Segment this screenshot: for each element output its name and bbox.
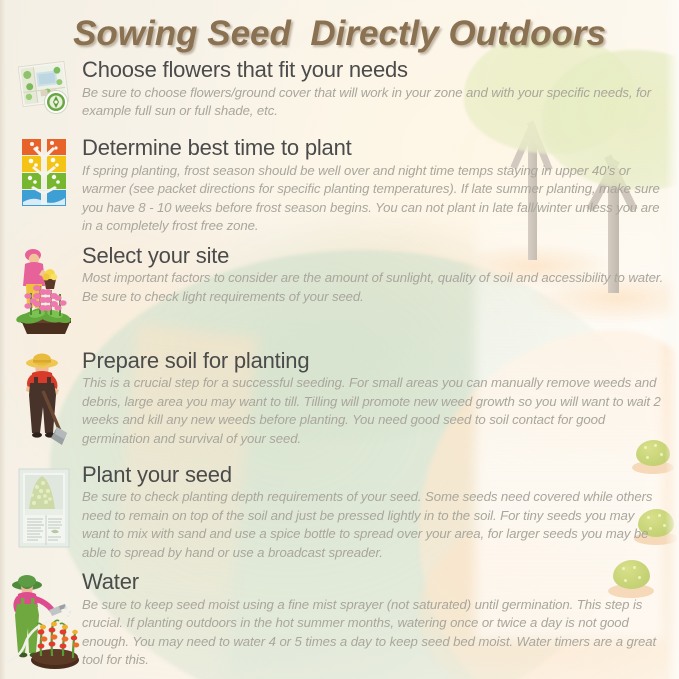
section-3-heading: Select your site — [82, 244, 665, 269]
section-4-heading: Prepare soil for planting — [82, 349, 665, 374]
section-3-icon-col — [8, 244, 80, 343]
section-5-body: Be sure to check planting depth requirem… — [82, 488, 665, 562]
section-5-heading: Plant your seed — [82, 463, 665, 488]
section-1-body: Be sure to choose flowers/ground cover t… — [82, 84, 665, 121]
gardener-with-shovel-icon — [15, 351, 73, 456]
section-4-icon-col — [8, 349, 80, 456]
poster-content: Sowing Seed Directly Outdoors — [0, 0, 679, 677]
section-3-text: Select your site Most important factors … — [80, 244, 665, 307]
section-6-body: Be sure to keep seed moist using a fine … — [82, 596, 665, 670]
section-prepare-soil: Prepare soil for planting This is a cruc… — [0, 349, 679, 456]
section-2-body: If spring planting, frost season should … — [82, 162, 665, 236]
section-6-icon-col — [8, 570, 80, 677]
garden-plan-map-icon — [14, 60, 74, 127]
gardener-watering-icon — [5, 572, 83, 677]
section-6-text: Water Be sure to keep seed moist using a… — [80, 570, 665, 670]
section-plant-seed: Plant your seed Be sure to check plantin… — [0, 463, 679, 563]
four-seasons-icon — [19, 138, 69, 215]
seed-packet-icon — [15, 465, 73, 558]
section-5-icon-col — [8, 463, 80, 558]
section-2-text: Determine best time to plant If spring p… — [80, 136, 665, 236]
page-title: Sowing Seed Directly Outdoors — [0, 0, 679, 56]
section-4-body: This is a crucial step for a successful … — [82, 374, 665, 448]
section-1-text: Choose flowers that fit your needs Be su… — [80, 58, 665, 121]
section-choose-flowers: Choose flowers that fit your needs Be su… — [0, 58, 679, 127]
section-2-icon-col — [8, 136, 80, 215]
infographic-poster: Sowing Seed Directly Outdoors — [0, 0, 679, 679]
flower-planter-icon — [13, 246, 75, 343]
section-2-heading: Determine best time to plant — [82, 136, 665, 161]
section-water: Water Be sure to keep seed moist using a… — [0, 570, 679, 677]
section-6-heading: Water — [82, 570, 665, 595]
section-5-text: Plant your seed Be sure to check plantin… — [80, 463, 665, 563]
section-best-time: Determine best time to plant If spring p… — [0, 136, 679, 236]
section-1-icon-col — [8, 58, 80, 127]
section-4-text: Prepare soil for planting This is a cruc… — [80, 349, 665, 449]
section-select-site: Select your site Most important factors … — [0, 244, 679, 343]
section-3-body: Most important factors to consider are t… — [82, 269, 665, 306]
section-1-heading: Choose flowers that fit your needs — [82, 58, 665, 83]
